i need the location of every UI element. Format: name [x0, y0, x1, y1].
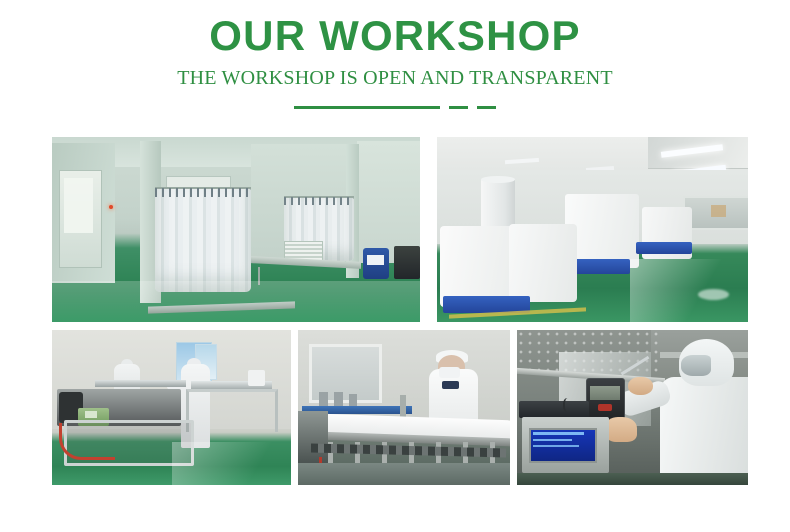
photo-quality-inspection: [517, 330, 748, 485]
photo-conveyor-operator: [298, 330, 510, 485]
production-line-illustration: [52, 330, 291, 485]
section-header: OUR WORKSHOP THE WORKSHOP IS OPEN AND TR…: [0, 0, 790, 110]
gowning-room-illustration: [52, 137, 420, 322]
photo-row-bottom: [52, 330, 748, 485]
quality-inspection-illustration: [517, 330, 748, 485]
divider: [0, 104, 790, 110]
photo-production-line: [52, 330, 291, 485]
page-title: OUR WORKSHOP: [0, 14, 790, 58]
divider-short-dash-2: [477, 106, 496, 109]
conveyor-operator-illustration: [298, 330, 510, 485]
photo-gowning-room: [52, 137, 420, 322]
workshop-section: OUR WORKSHOP THE WORKSHOP IS OPEN AND TR…: [0, 0, 790, 532]
photo-row-top: [52, 137, 748, 322]
divider-short-dash-1: [449, 106, 468, 109]
photo-material-warehouse: [437, 137, 748, 322]
divider-long-dash: [294, 106, 440, 109]
page-subtitle: THE WORKSHOP IS OPEN AND TRANSPARENT: [0, 67, 790, 90]
material-warehouse-illustration: [437, 137, 748, 322]
photo-grid: [52, 137, 748, 485]
